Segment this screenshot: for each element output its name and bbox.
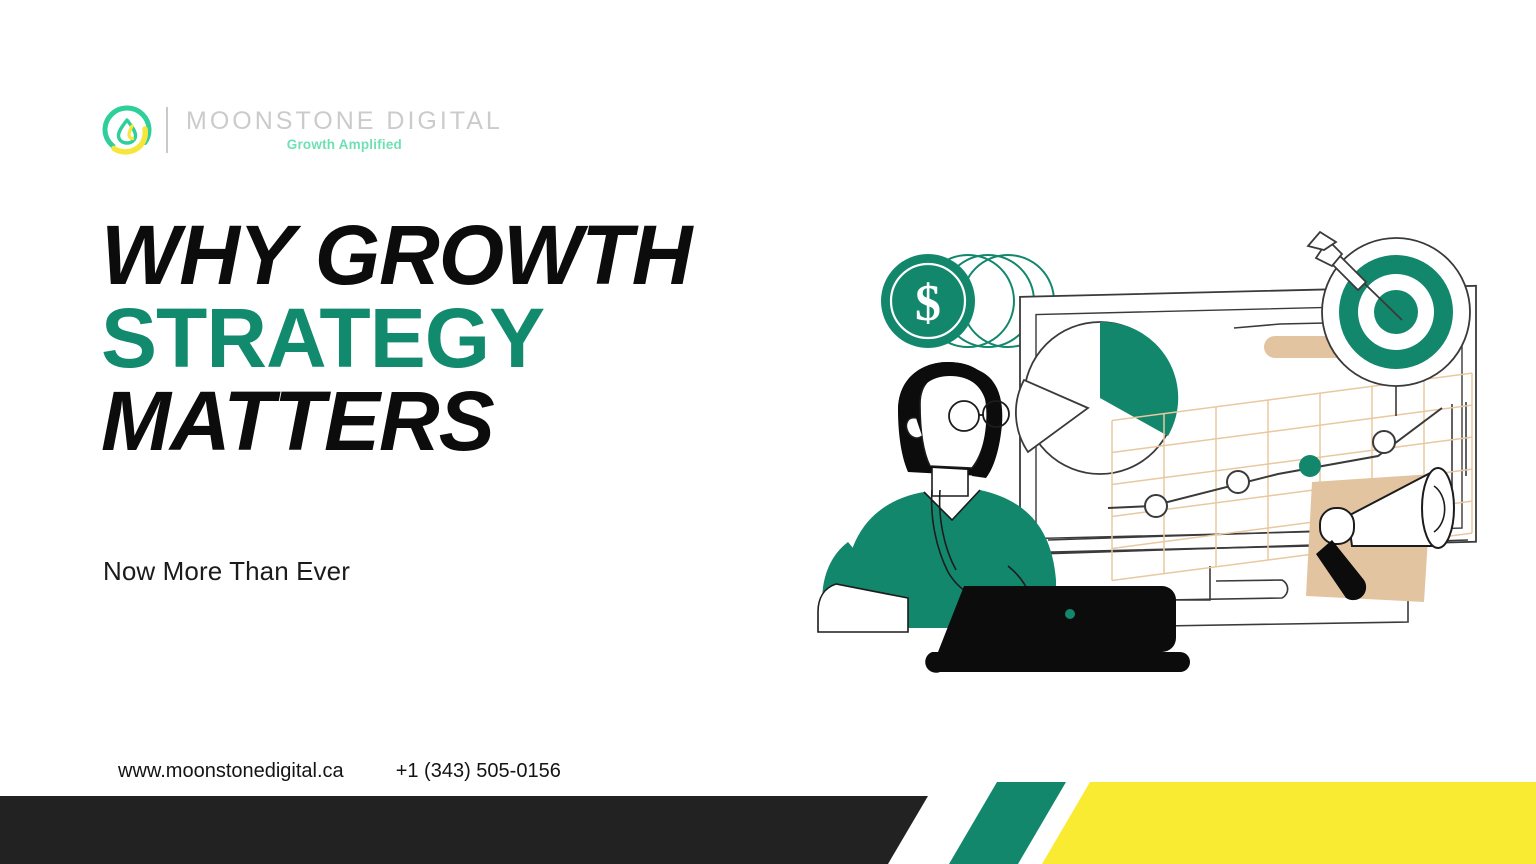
logo-divider [166,107,168,153]
footer-contact: www.moonstonedigital.ca +1 (343) 505-015… [118,760,561,783]
footer-phone[interactable]: +1 (343) 505-0156 [396,760,561,783]
laptop [925,586,1190,673]
logo-tagline: Growth Amplified [186,137,503,152]
megaphone-group [1306,468,1454,602]
headline-line-3: MATTERS [101,380,781,463]
logo-text-group: MOONSTONE DIGITAL Growth Amplified [186,108,503,152]
yellow-angled-band [1042,782,1536,864]
page-title: WHY GROWTH STRATEGY MATTERS [101,214,781,463]
graph-node-highlight [1299,455,1321,477]
subtitle: Now More Than Ever [103,556,350,587]
logo-wordmark: MOONSTONE DIGITAL [186,108,503,134]
graph-node [1373,431,1395,453]
graph-node [1145,495,1167,517]
green-angled-slash [949,782,1066,864]
business-analytics-illustration: $ [812,228,1492,678]
moonstone-monogram-icon [100,103,154,157]
slide-canvas: MOONSTONE DIGITAL Growth Amplified WHY G… [0,0,1536,864]
headline-line-2: STRATEGY [101,297,781,380]
black-angled-bar [0,796,928,864]
laptop-logo-dot [1065,609,1075,619]
coin-dollar-glyph: $ [915,275,941,332]
footer-website[interactable]: www.moonstonedigital.ca [118,760,344,783]
headline-line-1: WHY GROWTH [101,214,781,297]
graph-node [1227,471,1249,493]
brand-logo[interactable]: MOONSTONE DIGITAL Growth Amplified [100,99,503,161]
